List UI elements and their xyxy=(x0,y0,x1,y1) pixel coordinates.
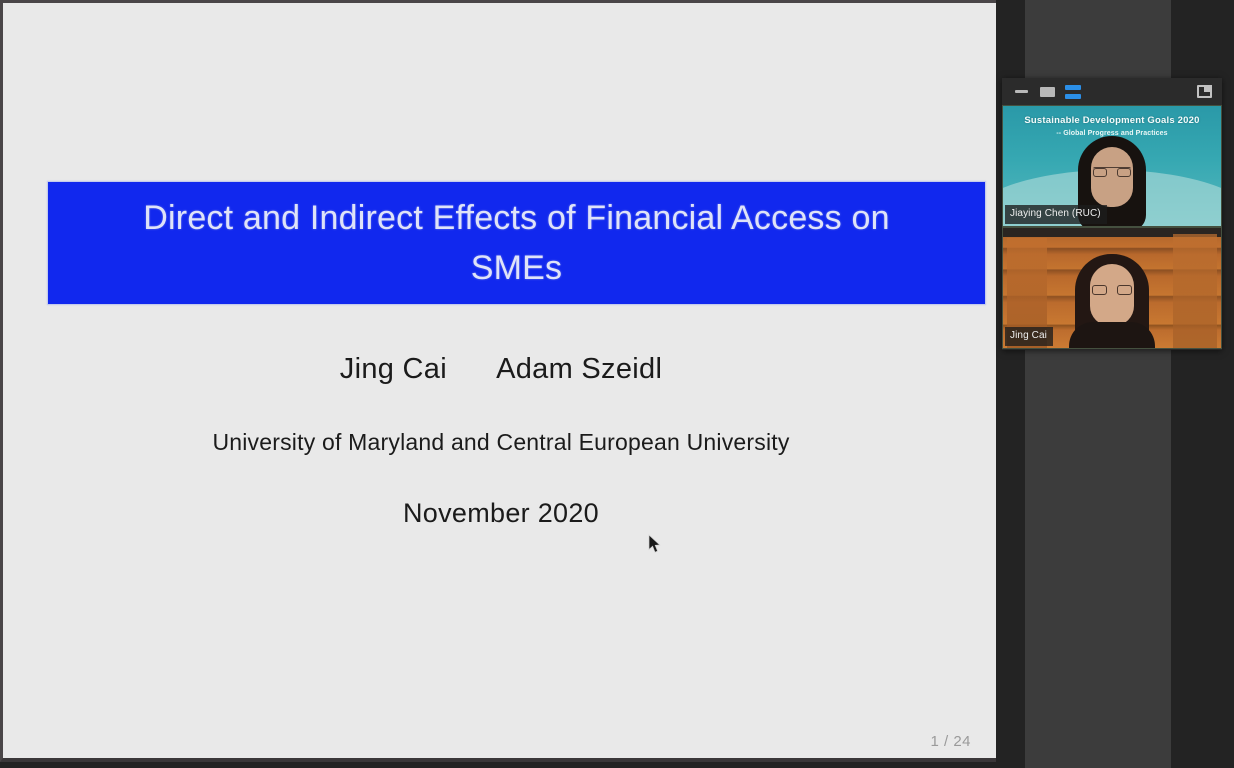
video-conference-panel[interactable]: Sustainable Development Goals 2020 -- Gl… xyxy=(1002,78,1222,350)
restore-button[interactable] xyxy=(1036,83,1058,101)
virtual-background-title: Sustainable Development Goals 2020 xyxy=(1003,115,1221,126)
page-indicator: 1 / 24 xyxy=(930,733,971,750)
picture-in-picture-button[interactable] xyxy=(1194,83,1214,101)
gallery-view-button[interactable] xyxy=(1062,83,1084,101)
slide-title-line2: SMEs xyxy=(471,249,562,287)
author-jing-cai: Jing Cai xyxy=(340,353,447,385)
participant-name-label: Jiaying Chen (RUC) xyxy=(1005,205,1107,224)
slide-title-line1: Direct and Indirect Effects of Financial… xyxy=(143,199,889,237)
participant-glasses xyxy=(1092,285,1132,295)
screen: Direct and Indirect Effects of Financial… xyxy=(0,0,1234,768)
minimize-button[interactable] xyxy=(1010,83,1032,101)
video-tile-jing-cai[interactable]: Jing Cai xyxy=(1002,227,1222,349)
slide-title-banner: Direct and Indirect Effects of Financial… xyxy=(48,182,985,304)
participant-face xyxy=(1090,264,1134,326)
minimize-icon xyxy=(1015,90,1028,93)
slide-date: November 2020 xyxy=(3,498,996,529)
video-panel-titlebar[interactable] xyxy=(1002,78,1222,105)
presentation-slide[interactable]: Direct and Indirect Effects of Financial… xyxy=(0,0,996,762)
slide-authors: Jing Cai Adam Szeidl xyxy=(3,353,996,386)
video-tiles: Sustainable Development Goals 2020 -- Gl… xyxy=(1002,105,1222,350)
wood-panel-right xyxy=(1173,234,1217,349)
participant-glasses xyxy=(1093,167,1131,177)
gallery-view-icon xyxy=(1065,85,1081,99)
video-tile-jiaying-chen[interactable]: Sustainable Development Goals 2020 -- Gl… xyxy=(1002,105,1222,227)
participant-name-label: Jing Cai xyxy=(1005,327,1053,346)
slide-affiliation: University of Maryland and Central Europ… xyxy=(3,429,996,456)
restore-icon xyxy=(1040,87,1055,97)
slide-title: Direct and Indirect Effects of Financial… xyxy=(143,193,889,293)
picture-in-picture-icon xyxy=(1197,85,1212,98)
participant-body xyxy=(1069,322,1155,348)
author-adam-szeidl: Adam Szeidl xyxy=(496,353,662,385)
participant-face xyxy=(1091,147,1133,207)
